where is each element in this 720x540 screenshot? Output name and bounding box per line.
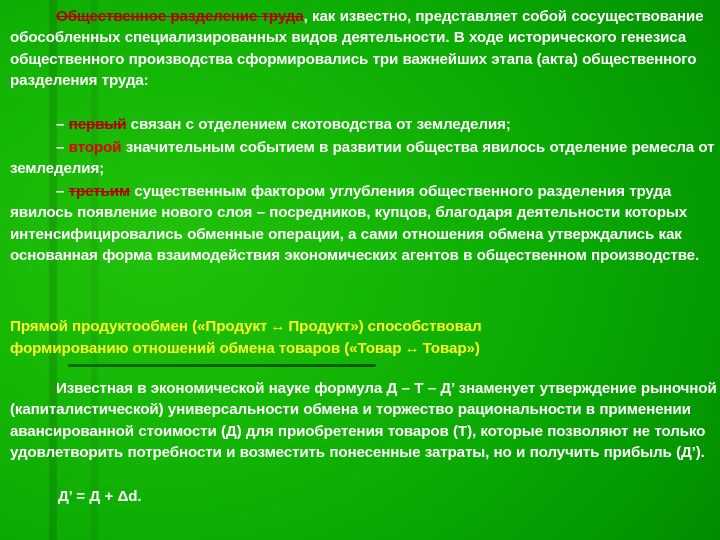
highlight-term-division-of-labor: Общественное разделение труда: [56, 8, 304, 25]
list-marker-third: третьим: [69, 183, 130, 200]
list-marker-second: второй: [69, 139, 122, 156]
intro-paragraph: Общественное разделение труда, как извес…: [0, 6, 720, 92]
list-dash: –: [56, 183, 64, 200]
bidirectional-arrow-icon: ↔: [267, 318, 288, 335]
final-paragraph-text: Известная в экономической науке формула …: [10, 380, 717, 461]
list-item-first-text: связан с отделением скотоводства от земл…: [126, 116, 510, 133]
list-item-first: – первый связан с отделением скотоводств…: [0, 114, 720, 135]
list-item-third: – третьим существенным фактором углублен…: [0, 181, 720, 267]
formula-line: Д’ = Д + Δd.: [0, 486, 720, 507]
final-paragraph: Известная в экономической науке формула …: [0, 378, 720, 464]
highlight-line2-part1: формированию отношений обмена товаров («…: [10, 340, 401, 357]
bidirectional-arrow-icon: ↔: [401, 340, 422, 357]
highlight-line1-part1: Прямой продуктообмен («Продукт: [10, 318, 267, 335]
highlight-line1-part2: Продукт») способствовал: [288, 318, 481, 335]
highlight-line2-part2: Товар»): [423, 340, 480, 357]
list-item-second: – второй значительным событием в развити…: [0, 137, 720, 180]
presentation-slide: Общественное разделение труда, как извес…: [0, 0, 720, 540]
section-divider: [68, 364, 376, 367]
list-marker-first: первый: [69, 116, 127, 133]
formula-text: Д’ = Д + Δd.: [58, 488, 141, 505]
list-dash: –: [56, 139, 64, 156]
highlighted-statement-block: Прямой продуктообмен («Продукт↔Продукт»)…: [0, 316, 720, 360]
list-dash: –: [56, 116, 64, 133]
